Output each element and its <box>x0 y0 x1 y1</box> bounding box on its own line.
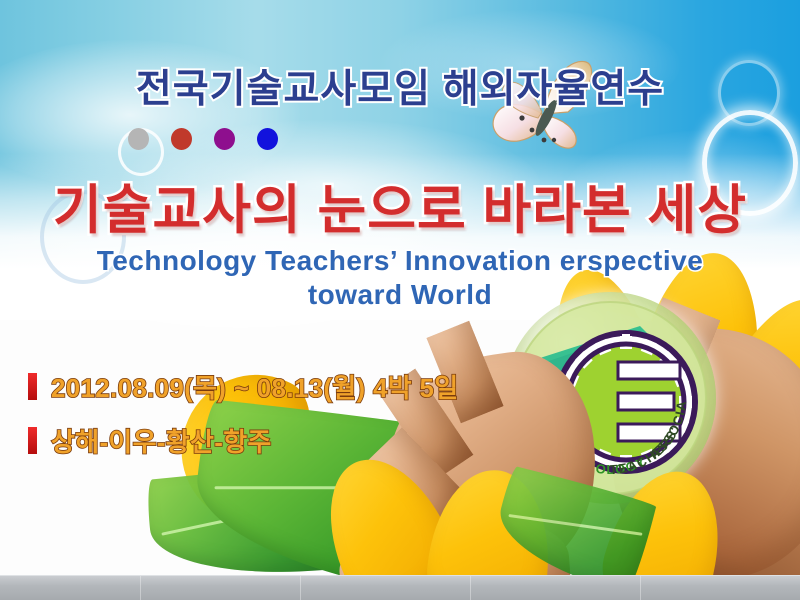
presentation-slide: KOREAN TECHNOLOGY TEACHERS' ASSOCIATION <box>0 0 800 600</box>
decor-dot-red <box>171 128 192 150</box>
bullet-marker-icon <box>28 373 37 400</box>
page-header-title: 전국기술교사모임 해외자율연수 <box>0 58 800 114</box>
bullet-marker-icon <box>28 427 37 454</box>
info-line-itinerary-text: 상해-이우-황산-항주 <box>51 422 272 459</box>
info-line-dates-text: 2012.08.09(목) ~ 08.13(월) 4박 5일 <box>51 368 459 405</box>
page-title: 기술교사의 눈으로 바라본 세상 <box>0 168 800 244</box>
decor-dot-purple <box>214 128 235 150</box>
decor-dot-blue <box>257 128 278 150</box>
info-line-dates: 2012.08.09(목) ~ 08.13(월) 4박 5일 <box>28 368 459 405</box>
page-subtitle: Technology Teachers’ Innovation erspecti… <box>60 244 740 312</box>
bottom-status-bar <box>0 575 800 600</box>
page-subtitle-line2: toward World <box>60 278 740 312</box>
decor-dot-row <box>128 128 278 150</box>
page-subtitle-line1: Technology Teachers’ Innovation erspecti… <box>60 244 740 278</box>
decor-dot-gray <box>128 128 149 150</box>
info-line-itinerary: 상해-이우-황산-항주 <box>28 422 272 459</box>
